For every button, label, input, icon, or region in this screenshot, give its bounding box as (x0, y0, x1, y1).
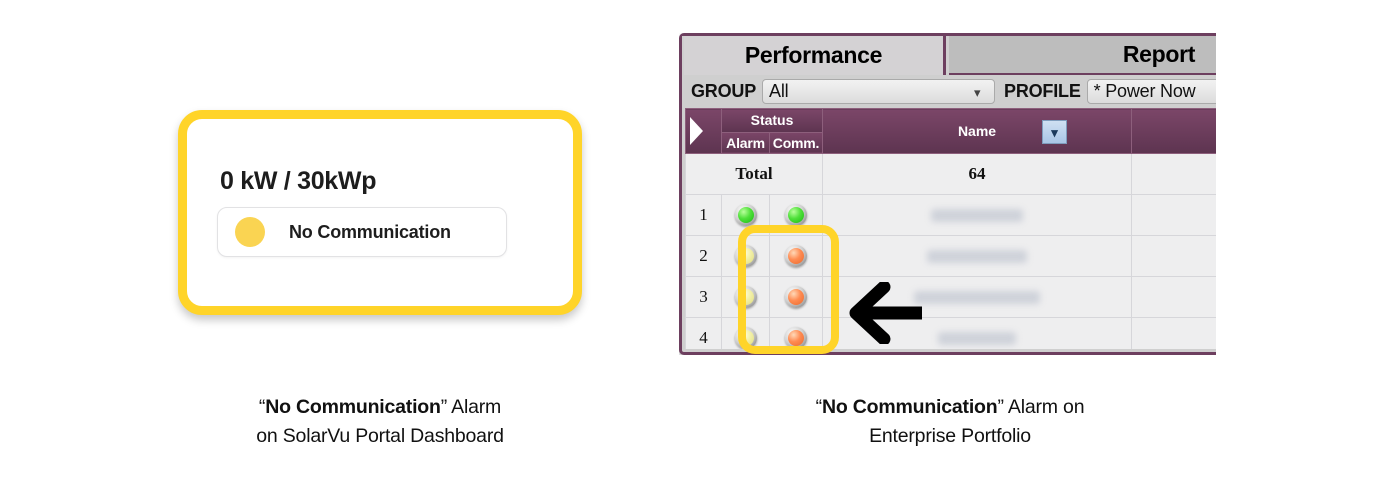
table-row[interactable]: 3 (686, 277, 1217, 318)
caption-quoted-term: No Communication (265, 396, 441, 418)
alarm-status-cell[interactable] (722, 236, 770, 277)
name-column-header[interactable]: Name ▾ (823, 109, 1132, 154)
alarm-status-cell[interactable] (722, 195, 770, 236)
total-se-cell (1132, 154, 1216, 195)
chevron-down-icon: ▾ (974, 89, 985, 96)
total-count: 64 (823, 154, 1132, 195)
caption-line2: on SolarVu Portal Dashboard (256, 425, 504, 447)
profile-select-value: * Power Now (1094, 81, 1196, 102)
status-pill[interactable]: No Communication (217, 207, 507, 257)
portfolio-window: Performance Report GROUP All ▾ PROFILE *… (679, 33, 1216, 355)
comm-led-green-icon (785, 204, 807, 226)
se-column-header[interactable]: Se (1132, 109, 1216, 154)
row-number: 1 (686, 195, 722, 236)
portfolio-table-container: Status Name ▾ Se Alarm Comm. Total641234 (685, 108, 1216, 349)
group-select-value: All (769, 81, 788, 102)
row-number: 3 (686, 277, 722, 318)
profile-select[interactable]: * Power Now (1087, 79, 1216, 104)
name-sort-chevron-down-icon[interactable]: ▾ (1042, 120, 1067, 144)
table-row[interactable]: 4 (686, 318, 1217, 350)
profile-label: PROFILE (1004, 81, 1081, 102)
filter-bar: GROUP All ▾ PROFILE * Power Now (682, 75, 1216, 108)
caption-tail: ” Alarm (441, 396, 501, 418)
alarm-column-header[interactable]: Alarm (722, 132, 770, 153)
caption-portfolio: “No Communication” Alarm on Enterprise P… (700, 393, 1200, 451)
comm-status-cell[interactable] (770, 236, 823, 277)
comm-column-header[interactable]: Comm. (770, 132, 823, 153)
caption-line2: Enterprise Portfolio (869, 425, 1031, 447)
solarvu-dashboard-card: 0 kW / 30kWp No Communication (178, 110, 582, 315)
alarm-led-yellow-icon (735, 245, 757, 267)
site-name-cell[interactable] (823, 236, 1132, 277)
table-row[interactable]: 2 (686, 236, 1217, 277)
comm-status-cell[interactable] (770, 195, 823, 236)
row-number: 4 (686, 318, 722, 350)
triangle-right-icon (690, 117, 703, 145)
row-number: 2 (686, 236, 722, 277)
alarm-led-yellow-icon (735, 286, 757, 308)
total-label: Total (686, 154, 823, 195)
caption-tail: ” Alarm on (997, 396, 1084, 418)
expand-column-header[interactable] (686, 109, 722, 154)
se-cell (1132, 277, 1216, 318)
alarm-status-cell[interactable] (722, 277, 770, 318)
tab-performance[interactable]: Performance (684, 36, 946, 75)
se-cell (1132, 236, 1216, 277)
enterprise-portfolio-panel: Performance Report GROUP All ▾ PROFILE *… (679, 33, 1216, 355)
site-name-cell[interactable] (823, 277, 1132, 318)
redacted-site-name (927, 250, 1027, 263)
table-row[interactable]: 1 (686, 195, 1217, 236)
name-header-label: Name (958, 123, 996, 139)
group-label: GROUP (691, 81, 756, 102)
table-total-row: Total64 (686, 154, 1217, 195)
site-name-cell[interactable] (823, 195, 1132, 236)
site-name-cell[interactable] (823, 318, 1132, 350)
comm-led-orange-icon (785, 245, 807, 267)
portfolio-table: Status Name ▾ Se Alarm Comm. Total641234 (685, 108, 1216, 349)
se-cell (1132, 195, 1216, 236)
comm-status-cell[interactable] (770, 318, 823, 350)
alarm-status-cell[interactable] (722, 318, 770, 350)
tab-bar: Performance Report (682, 36, 1216, 75)
redacted-site-name (938, 332, 1016, 345)
comm-led-orange-icon (785, 327, 807, 349)
caption-dashboard: “No Communication” Alarm on SolarVu Port… (130, 393, 630, 451)
status-dot-icon (235, 217, 265, 247)
dashboard-panel: 0 kW / 30kWp No Communication “No Commun… (0, 0, 700, 494)
alarm-led-green-icon (735, 204, 757, 226)
redacted-site-name (931, 209, 1023, 222)
comm-status-cell[interactable] (770, 277, 823, 318)
status-pill-label: No Communication (289, 222, 451, 243)
portfolio-table-body: Total641234 (686, 154, 1217, 350)
caption-quoted-term: No Communication (822, 396, 998, 418)
se-cell (1132, 318, 1216, 350)
comm-led-orange-icon (785, 286, 807, 308)
tab-report[interactable]: Report (949, 36, 1216, 75)
redacted-site-name (914, 291, 1040, 304)
alarm-led-yellow-icon (735, 327, 757, 349)
power-readout: 0 kW / 30kWp (220, 167, 376, 196)
status-group-header: Status (722, 109, 823, 133)
group-select[interactable]: All ▾ (762, 79, 995, 104)
